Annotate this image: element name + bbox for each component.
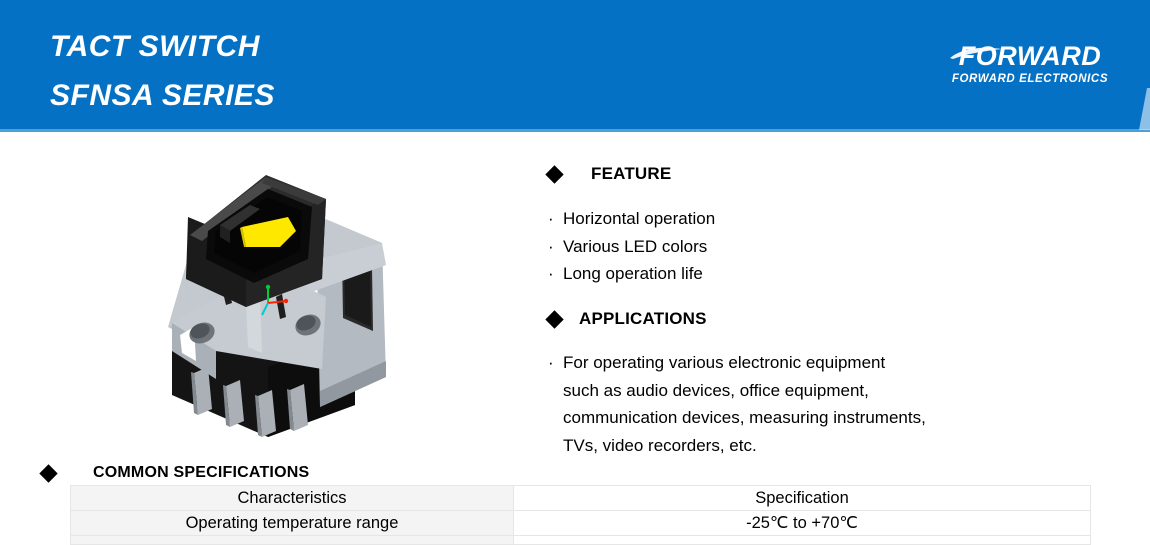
cell-characteristic: Operating temperature range: [71, 511, 514, 536]
bullet-dot-icon: ·: [548, 349, 563, 377]
logo-wordmark-text: FORWARD: [940, 42, 1120, 71]
cell-characteristic-partial: [71, 536, 514, 545]
column-header-characteristics: Characteristics: [71, 486, 514, 511]
feature-item-text: Long operation life: [563, 260, 1018, 288]
feature-list: · Horizontal operation · Various LED col…: [548, 205, 1018, 288]
feature-heading: FEATURE: [548, 160, 1018, 188]
table-row-partial: [71, 536, 1091, 545]
list-item: · For operating various electronic equip…: [548, 349, 1018, 459]
list-item: · Various LED colors: [548, 233, 1018, 261]
feature-heading-label: FEATURE: [591, 164, 671, 184]
product-photo-tact-switch: [150, 155, 435, 445]
common-specifications-heading: COMMON SPECIFICATIONS: [42, 462, 309, 484]
table-header-row: Characteristics Specification: [71, 486, 1091, 511]
applications-heading: APPLICATIONS: [548, 305, 1018, 333]
company-logo: FORWARD FORWARD ELECTRONICS: [940, 42, 1120, 87]
applications-list: · For operating various electronic equip…: [548, 349, 1018, 459]
diamond-bullet-icon: [545, 310, 563, 328]
common-specifications-table: Characteristics Specification Operating …: [70, 485, 1091, 545]
feature-section: FEATURE · Horizontal operation · Various…: [548, 160, 1018, 288]
list-item: · Long operation life: [548, 260, 1018, 288]
bullet-dot-icon: ·: [548, 205, 563, 233]
table-row: Operating temperature range -25℃ to +70℃: [71, 511, 1091, 536]
bullet-dot-icon: ·: [548, 233, 563, 261]
applications-item-text: For operating various electronic equipme…: [563, 349, 1018, 459]
header-edge-decoration: [1137, 88, 1150, 130]
page-title-line-2: SFNSA SERIES: [50, 71, 275, 120]
common-specifications-heading-label: COMMON SPECIFICATIONS: [93, 464, 309, 482]
diamond-bullet-icon: [545, 165, 563, 183]
cell-specification: -25℃ to +70℃: [514, 511, 1091, 536]
logo-subtext: FORWARD ELECTRONICS: [940, 72, 1120, 87]
page-title-line-1: TACT SWITCH: [50, 22, 275, 71]
column-header-specification: Specification: [514, 486, 1091, 511]
list-item: · Horizontal operation: [548, 205, 1018, 233]
header-underline-accent: [0, 129, 1150, 132]
applications-section: APPLICATIONS · For operating various ele…: [548, 305, 1018, 459]
feature-item-text: Horizontal operation: [563, 205, 1018, 233]
applications-heading-label: APPLICATIONS: [579, 309, 707, 329]
diamond-bullet-icon: [39, 464, 57, 482]
page-title: TACT SWITCH SFNSA SERIES: [50, 22, 275, 120]
bullet-dot-icon: ·: [548, 260, 563, 288]
feature-item-text: Various LED colors: [563, 233, 1018, 261]
cell-specification-partial: [514, 536, 1091, 545]
